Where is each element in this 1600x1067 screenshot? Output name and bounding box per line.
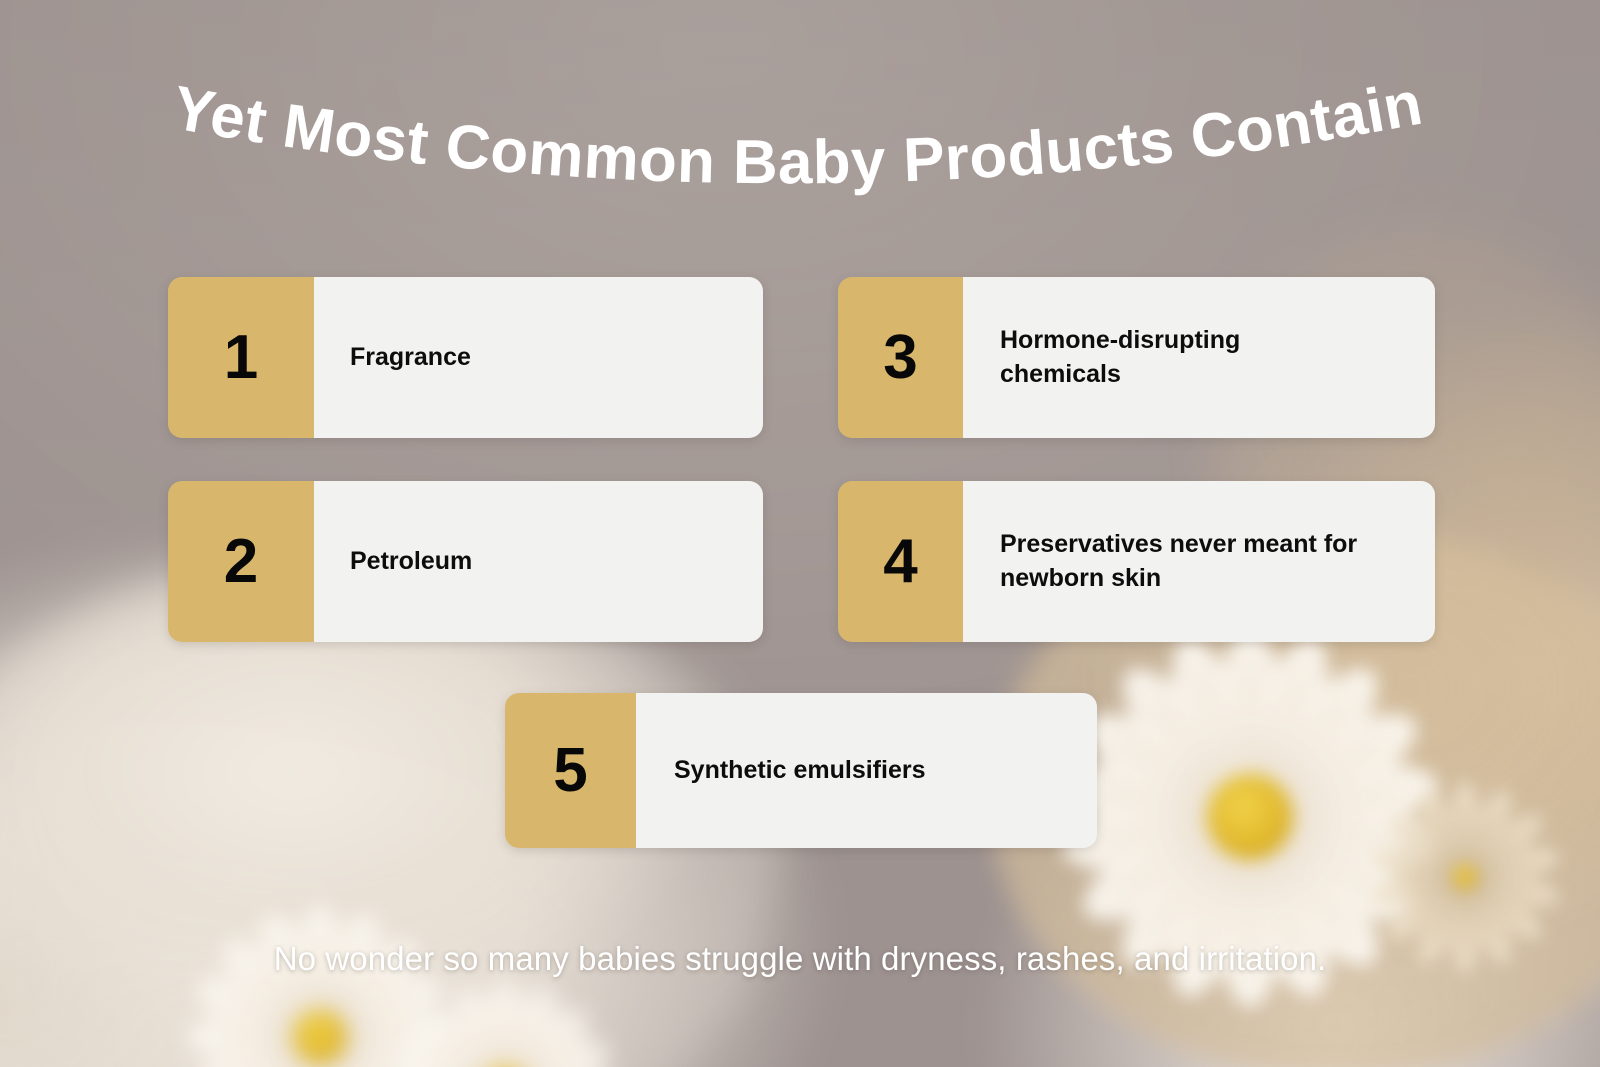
card-2-label: Petroleum [350,545,472,579]
page-title: Yet Most Common Baby Products Contain [0,62,1600,252]
daisy-center [1452,864,1478,890]
card-4-panel: Preservatives never meant for newborn sk… [963,481,1435,642]
card-2-number-badge: 2 [168,481,314,642]
card-3-number: 3 [883,327,917,389]
card-5-label: Synthetic emulsifiers [674,754,925,788]
card-3-number-badge: 3 [838,277,963,438]
daisy-flower-small-center-icon [380,967,630,1067]
daisy-center [1207,774,1293,860]
ingredient-card-5[interactable]: 5 Synthetic emulsifiers [505,693,1097,848]
card-1-number: 1 [224,327,258,389]
ingredient-card-1[interactable]: 1 Fragrance [168,277,763,438]
ingredient-card-4[interactable]: 4 Preservatives never meant for newborn … [838,481,1435,642]
card-3-label: Hormone-disrupting chemicals [1000,324,1320,392]
page-title-textpath: Yet Most Common Baby Products Contain [168,69,1428,198]
card-1-panel: Fragrance [314,277,763,438]
card-4-label: Preservatives never meant for newborn sk… [1000,528,1370,596]
page-title-text: Yet Most Common Baby Products Contain [168,69,1428,198]
card-2-number: 2 [224,531,258,593]
ingredient-card-2[interactable]: 2 Petroleum [168,481,763,642]
footer-caption: No wonder so many babies struggle with d… [0,940,1600,978]
card-5-panel: Synthetic emulsifiers [636,693,1097,848]
card-1-number-badge: 1 [168,277,314,438]
infographic-canvas: Yet Most Common Baby Products Contain 1 … [0,0,1600,1067]
card-4-number-badge: 4 [838,481,963,642]
card-3-panel: Hormone-disrupting chemicals [963,277,1435,438]
card-5-number-badge: 5 [505,693,636,848]
card-1-label: Fragrance [350,341,471,375]
card-2-panel: Petroleum [314,481,763,642]
daisy-center [293,1010,347,1064]
ingredient-card-3[interactable]: 3 Hormone-disrupting chemicals [838,277,1435,438]
card-5-number: 5 [553,740,587,802]
card-4-number: 4 [883,531,917,593]
